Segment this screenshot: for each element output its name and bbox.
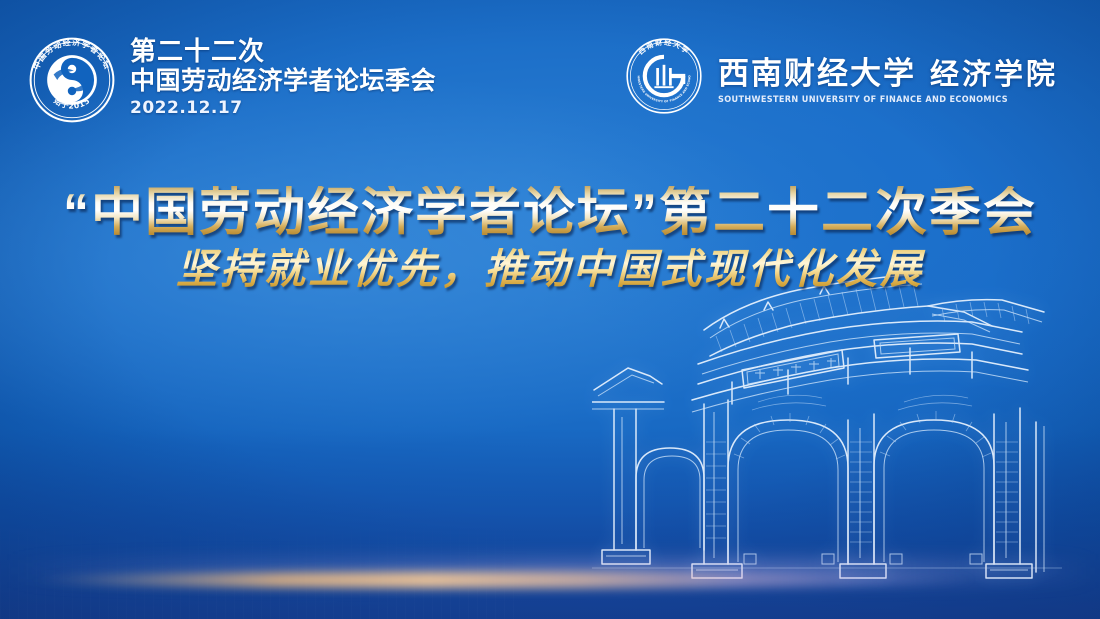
banner-header: 中国劳动经济学者论坛 始于2015 第二十二次 中国劳动经济学者论坛季会 202… xyxy=(0,0,1100,150)
event-date: 2022.12.17 xyxy=(130,98,436,118)
svg-text:西南财经大学: 西南财经大学 xyxy=(636,38,691,57)
conference-banner: 中国劳动经济学者论坛 始于2015 第二十二次 中国劳动经济学者论坛季会 202… xyxy=(0,0,1100,619)
title-block: “中国劳动经济学者论坛”第二十二次季会 坚持就业优先，推动中国式现代化发展 xyxy=(0,186,1100,292)
faculty-name: 经济学院 xyxy=(930,51,1058,93)
right-brand-text: 西南财经大学 经济学院 SOUTHWESTERN UNIVERSITY OF F… xyxy=(718,48,1058,105)
left-brand-lockup: 中国劳动经济学者论坛 始于2015 第二十二次 中国劳动经济学者论坛季会 202… xyxy=(26,32,436,126)
university-title-row: 西南财经大学 经济学院 xyxy=(718,48,1058,93)
china-labor-economists-forum-seal: 中国劳动经济学者论坛 始于2015 xyxy=(26,34,118,126)
chinese-paifang-archway-line-art xyxy=(592,272,1062,592)
right-brand-lockup: 西南财经大学 SOUTHWESTERN UNIVERSITY OF FINANC… xyxy=(624,36,1058,116)
swufe-university-seal: 西南财经大学 SOUTHWESTERN UNIVERSITY OF FINANC… xyxy=(624,36,704,116)
university-name: 西南财经大学 xyxy=(718,48,916,93)
forum-session-number: 第二十二次 xyxy=(130,36,436,66)
university-name-english: SOUTHWESTERN UNIVERSITY OF FINANCE AND E… xyxy=(718,95,1044,105)
bottom-light-streak xyxy=(30,572,980,588)
event-main-title: “中国劳动经济学者论坛”第二十二次季会 xyxy=(0,186,1100,241)
forum-name: 中国劳动经济学者论坛季会 xyxy=(130,66,436,96)
left-brand-text: 第二十二次 中国劳动经济学者论坛季会 2022.12.17 xyxy=(130,32,436,118)
event-subtitle-slogan: 坚持就业优先，推动中国式现代化发展 xyxy=(0,247,1100,292)
